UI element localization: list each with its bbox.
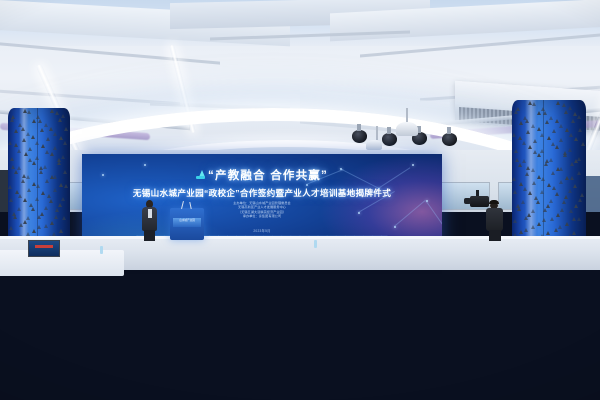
column-perforation: [21, 179, 25, 183]
column-perforation: [581, 142, 585, 146]
column-perforation: [524, 216, 528, 220]
column-perforation: [41, 144, 45, 148]
column-perforation: [565, 128, 569, 132]
column-perforation: [570, 162, 574, 166]
column-perforation: [24, 152, 28, 156]
column-perforation: [57, 161, 61, 165]
column-perforation: [22, 138, 26, 142]
column-perforation: [559, 167, 563, 171]
column-perforation: [571, 119, 575, 123]
column-perforation: [59, 183, 63, 187]
column-perforation: [536, 200, 540, 204]
column-perforation: [58, 118, 62, 122]
event-subtitle: 无锡山水城产业园“政校企”合作签约暨产业人才培训基地揭牌件式: [82, 187, 442, 199]
column-perforation: [54, 215, 58, 219]
column-perforation: [17, 166, 21, 170]
column-perforation: [549, 199, 553, 203]
column-perforation: [556, 213, 560, 217]
column-perforation: [8, 141, 12, 145]
column-perforation: [519, 121, 523, 125]
column-perforation: [527, 213, 531, 217]
column-perforation: [568, 106, 572, 110]
column-perforation: [49, 127, 53, 131]
column-perforation: [41, 191, 45, 195]
column-perforation: [547, 136, 551, 140]
column-perforation: [517, 207, 521, 211]
column-perforation: [564, 110, 568, 114]
column-perforation: [525, 172, 529, 176]
column-perforation: [540, 149, 544, 153]
column-perforation: [58, 203, 62, 207]
column-perforation: [559, 138, 563, 142]
column-perforation: [526, 130, 530, 134]
column-perforation: [13, 215, 17, 219]
conference-hall-photo: “产教融合 合作共赢” 无锡山水城产业园“政校企”合作签约暨产业人才培训基地揭牌…: [0, 0, 600, 400]
column-perforation: [542, 218, 546, 222]
column-perforation: [513, 190, 517, 194]
column-perforation: [565, 222, 569, 226]
column-perforation: [61, 114, 65, 118]
column-perforation: [18, 194, 22, 198]
column-perforation: [528, 191, 532, 195]
column-perforation: [580, 193, 584, 197]
column-perforation: [543, 208, 547, 212]
column-perforation: [577, 171, 581, 175]
event-credits: 主办单位：无锡山水城产业园管理委员会 无锡高新区产业人才发展服务中心 （无锡五湖…: [82, 201, 442, 219]
column-perforation: [564, 195, 568, 199]
column-perforation: [559, 124, 563, 128]
column-perforation: [44, 206, 48, 210]
column-perforation: [53, 175, 57, 179]
stage-spotlight: [352, 130, 367, 143]
column-perforation: [27, 110, 31, 114]
column-perforation: [569, 133, 573, 137]
column-perforation: [540, 133, 544, 137]
column-perforation: [55, 111, 59, 115]
column-perforation: [522, 159, 526, 163]
column-perforation: [40, 128, 44, 132]
column-perforation: [531, 168, 535, 172]
column-perforation: [559, 180, 563, 184]
column-perforation: [45, 179, 49, 183]
column-perforation: [545, 120, 549, 124]
column-perforation: [11, 165, 15, 169]
column-perforation: [550, 217, 554, 221]
column-perforation: [518, 136, 522, 140]
column-perforation: [537, 153, 541, 157]
column-perforation: [549, 158, 553, 162]
stage-spotlight: [382, 133, 397, 146]
column-perforation: [64, 184, 68, 188]
column-perforation: [23, 198, 27, 202]
column-perforation: [26, 132, 30, 136]
column-perforation: [555, 145, 559, 149]
column-perforation: [17, 149, 21, 153]
column-perforation: [55, 208, 59, 212]
column-perforation: [19, 223, 23, 227]
column-perforation: [543, 111, 547, 115]
column-perforation: [14, 129, 18, 133]
column-perforation: [522, 141, 526, 145]
column-perforation: [512, 177, 516, 181]
column-perforation: [578, 198, 582, 202]
column-perforation: [512, 133, 516, 137]
column-perforation: [9, 198, 13, 202]
column-perforation: [513, 219, 517, 223]
column-perforation: [573, 184, 577, 188]
column-perforation: [39, 170, 43, 174]
column-perforation: [14, 143, 18, 147]
column-perforation: [61, 197, 65, 201]
credit-line: 承办单位：泰集团有限公司: [82, 214, 442, 218]
column-perforation: [537, 127, 541, 131]
lectern-text: 山水城产业园: [173, 219, 201, 223]
column-perforation: [574, 204, 578, 208]
column-perforation: [31, 207, 35, 211]
column-perforation: [531, 209, 535, 213]
column-perforation: [26, 216, 30, 220]
column-perforation: [532, 181, 536, 185]
column-perforation: [556, 101, 560, 105]
column-perforation: [515, 158, 519, 162]
column-perforation: [552, 186, 556, 190]
operator-cap: [489, 200, 499, 204]
column-perforation: [533, 139, 537, 143]
column-perforation: [8, 185, 12, 189]
column-perforation: [565, 176, 569, 180]
column-perforation: [27, 188, 31, 192]
column-perforation: [532, 102, 536, 106]
column-perforation: [53, 132, 57, 136]
column-perforation: [577, 217, 581, 221]
column-perforation: [551, 171, 555, 175]
column-perforation: [10, 157, 14, 161]
column-perforation: [53, 146, 57, 150]
column-perforation: [61, 155, 65, 159]
column-perforation: [547, 183, 551, 187]
column-perforation: [50, 221, 54, 225]
column-perforation: [555, 119, 559, 123]
column-perforation: [46, 137, 50, 141]
column-perforation: [570, 176, 574, 180]
column-perforation: [26, 175, 30, 179]
column-perforation: [531, 124, 535, 128]
column-perforation: [560, 208, 564, 212]
event-headline-text: “产教融合 合作共赢”: [208, 170, 328, 182]
column-perforation: [528, 145, 532, 149]
pendant-lamp: [396, 122, 418, 136]
column-perforation: [523, 187, 527, 191]
column-perforation: [549, 116, 553, 120]
column-perforation: [49, 199, 53, 203]
column-perforation: [541, 177, 545, 181]
column-perforation: [35, 197, 39, 201]
column-perforation: [514, 149, 518, 153]
column-perforation: [10, 118, 14, 122]
column-perforation: [53, 188, 57, 192]
column-perforation: [552, 129, 556, 133]
column-perforation: [518, 163, 522, 167]
column-perforation: [537, 222, 541, 226]
column-perforation: [21, 127, 25, 131]
ceiling: [0, 0, 600, 172]
column-perforation: [64, 127, 68, 131]
column-perforation: [574, 137, 578, 141]
column-perforation: [14, 170, 18, 174]
presenter-shirt: [148, 209, 152, 218]
column-perforation: [568, 148, 572, 152]
event-logo-icon: [196, 170, 205, 180]
column-perforation: [32, 161, 36, 165]
column-perforation: [35, 141, 39, 145]
event-headline: “产教融合 合作共赢”: [82, 170, 442, 183]
column-perforation: [62, 216, 66, 220]
column-perforation: [521, 200, 525, 204]
column-perforation: [577, 157, 581, 161]
column-perforation: [525, 119, 529, 123]
column-perforation: [63, 170, 67, 174]
column-perforation: [50, 109, 54, 113]
column-perforation: [38, 119, 42, 123]
stage-spotlight: [442, 133, 457, 146]
column-perforation: [563, 153, 567, 157]
column-perforation: [47, 194, 51, 198]
column-perforation: [32, 119, 36, 123]
column-perforation: [572, 217, 576, 221]
audience-area: [0, 228, 600, 400]
column-perforation: [562, 103, 566, 107]
pendant-lamp: [366, 140, 382, 150]
column-perforation: [562, 200, 566, 204]
column-perforation: [537, 111, 541, 115]
column-perforation: [50, 152, 54, 156]
column-perforation: [555, 192, 559, 196]
column-perforation: [63, 141, 67, 145]
column-perforation: [568, 189, 572, 193]
column-perforation: [577, 115, 581, 119]
column-perforation: [28, 147, 32, 151]
column-perforation: [17, 207, 21, 211]
column-perforation: [36, 184, 40, 188]
column-perforation: [514, 110, 518, 114]
column-perforation: [569, 209, 573, 213]
column-perforation: [59, 136, 63, 140]
column-perforation: [35, 156, 39, 160]
column-perforation: [540, 190, 544, 194]
column-perforation: [31, 135, 35, 139]
column-perforation: [44, 123, 48, 127]
column-perforation: [544, 162, 548, 166]
column-perforation: [37, 215, 41, 219]
column-perforation: [578, 128, 582, 132]
column-perforation: [43, 165, 47, 169]
